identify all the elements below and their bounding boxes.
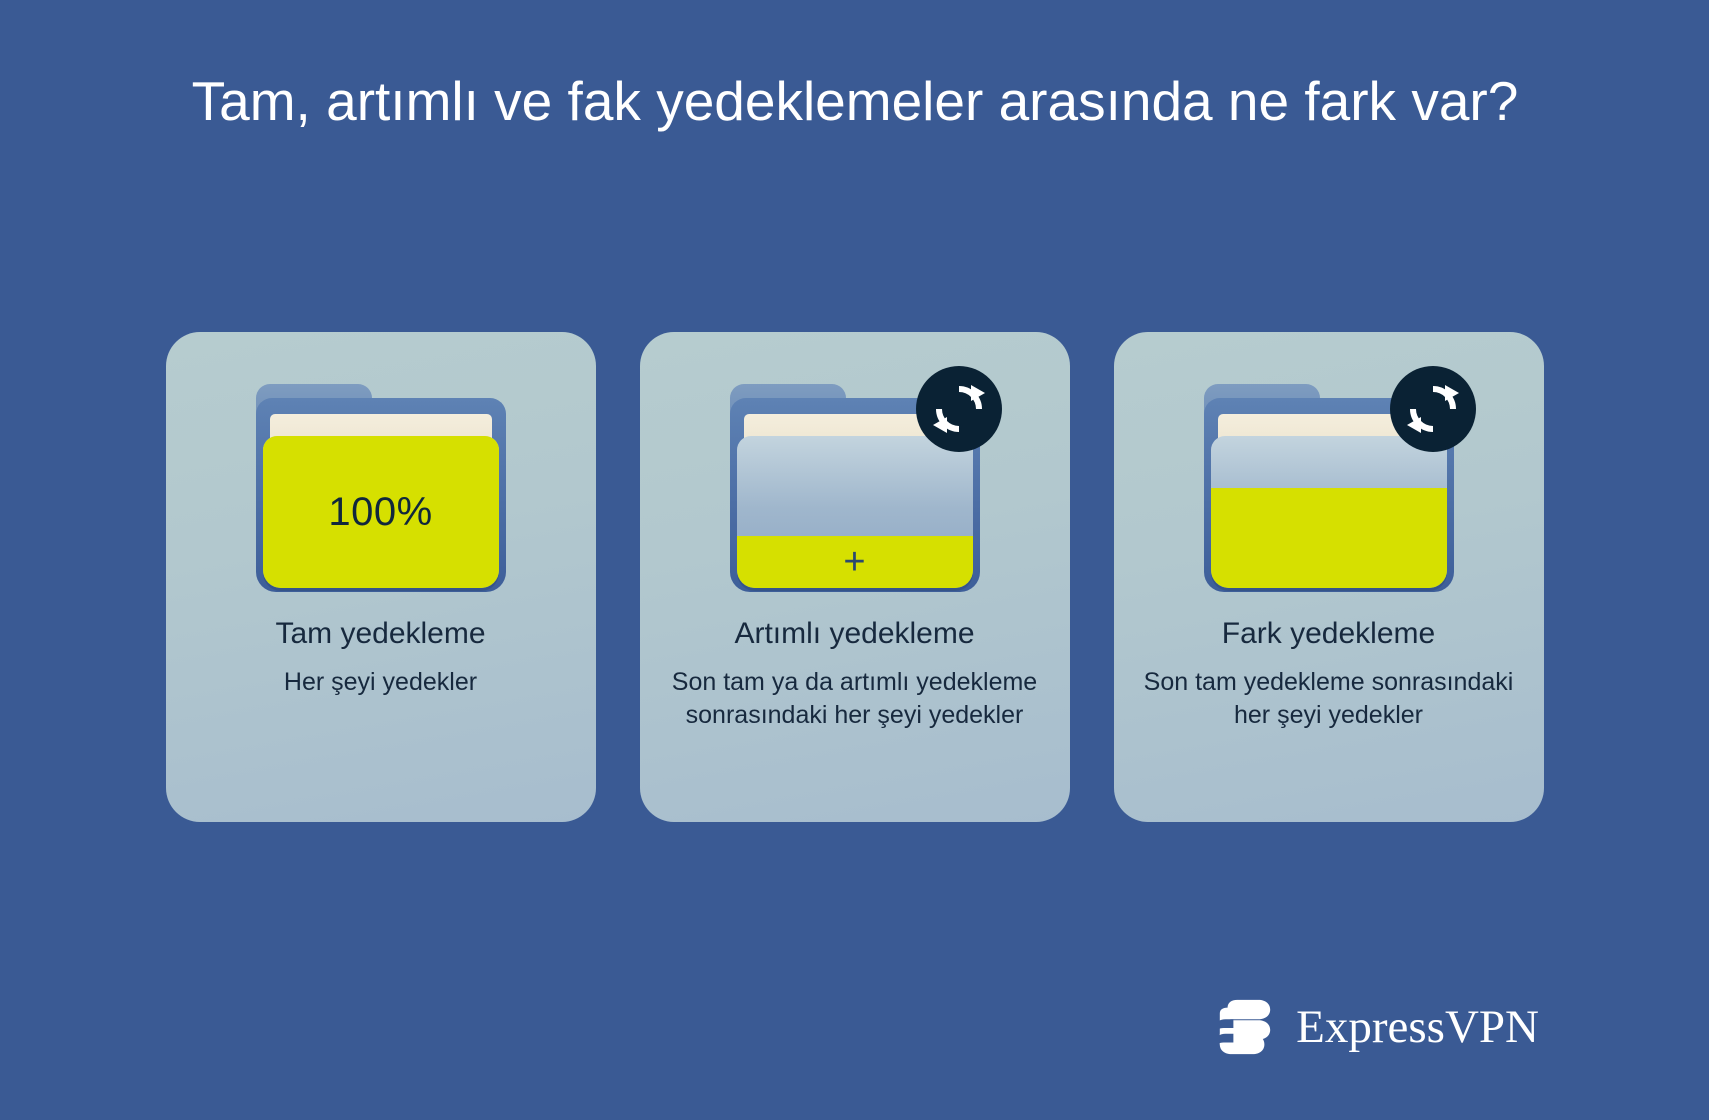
refresh-icon	[931, 381, 987, 437]
refresh-icon-badge	[916, 366, 1002, 452]
card-full-backup: 100% Tam yedekleme Her şeyi yedekler	[166, 332, 596, 822]
folder-icon-full: 100%	[256, 384, 506, 594]
folder-fill-small: +	[737, 536, 973, 588]
card-description-differential-backup: Son tam yedekleme sonrasındaki her şeyi …	[1114, 666, 1544, 732]
folder-icon-incremental: +	[730, 384, 980, 594]
page-title: Tam, artımlı ve fak yedeklemeler arasınd…	[160, 66, 1550, 136]
plus-icon: +	[843, 543, 865, 581]
card-title-full-backup: Tam yedekleme	[275, 616, 485, 652]
folder-fill-mid	[1211, 488, 1447, 588]
folder-front-icon: +	[737, 436, 973, 588]
card-differential-backup: Fark yedekleme Son tam yedekleme sonrası…	[1114, 332, 1544, 822]
folder-icon-differential	[1204, 384, 1454, 594]
infographic-page: Tam, artımlı ve fak yedeklemeler arasınd…	[0, 0, 1709, 1120]
folder-fill-full: 100%	[263, 436, 499, 588]
refresh-icon	[1405, 381, 1461, 437]
card-incremental-backup: + Artımlı yedekleme Son tam ya da artıml…	[640, 332, 1070, 822]
card-description-full-backup: Her şeyi yedekler	[270, 666, 491, 699]
card-title-differential-backup: Fark yedekleme	[1222, 616, 1435, 652]
expressvpn-wordmark: ExpressVPN	[1296, 1002, 1539, 1052]
folder-front-icon: 100%	[263, 436, 499, 588]
expressvpn-e-mark-icon	[1214, 996, 1276, 1058]
folder-fill-label: 100%	[328, 490, 432, 535]
refresh-icon-badge	[1390, 366, 1476, 452]
cards-row: 100% Tam yedekleme Her şeyi yedekler +	[0, 332, 1709, 822]
folder-front-icon	[1211, 436, 1447, 588]
card-description-incremental-backup: Son tam ya da artımlı yedekleme sonrasın…	[651, 666, 1059, 732]
card-title-incremental-backup: Artımlı yedekleme	[734, 616, 974, 652]
expressvpn-logo: ExpressVPN	[1214, 996, 1539, 1058]
